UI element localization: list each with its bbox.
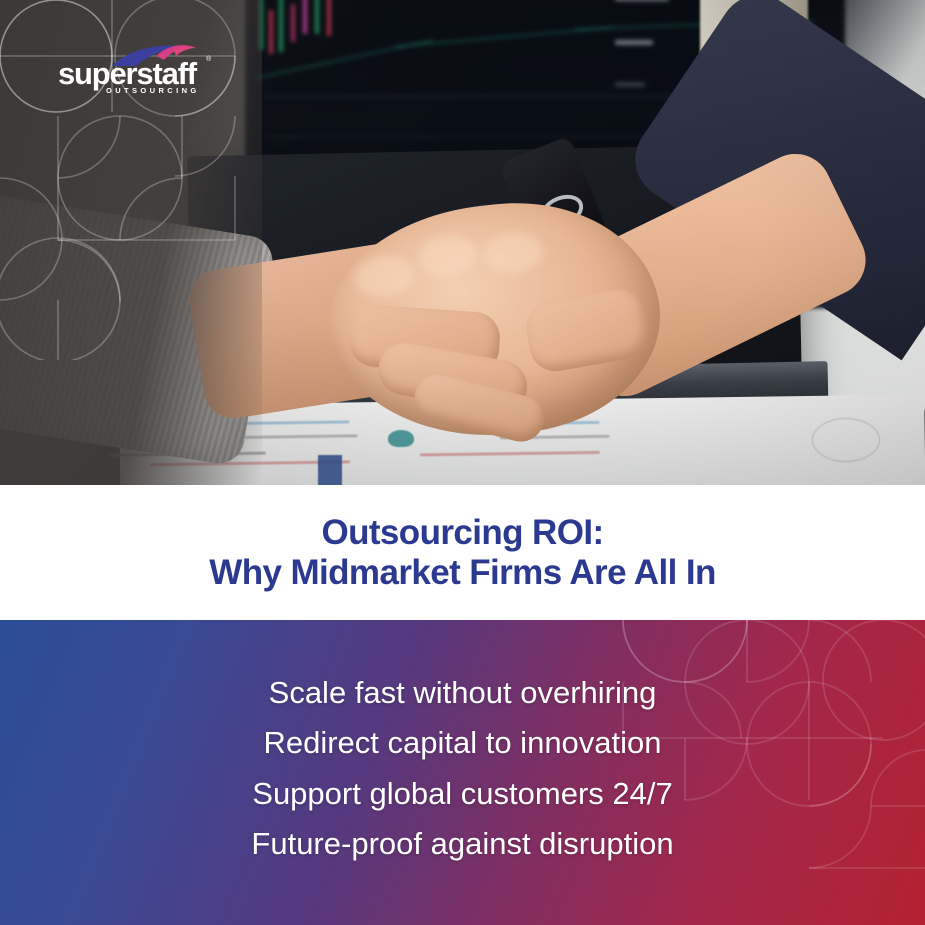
logo-tagline: OUTSOURCING [106,86,200,95]
benefit-item: Redirect capital to innovation [251,718,673,768]
title-band: Outsourcing ROI: Why Midmarket Firms Are… [0,485,925,620]
logo-registered-mark: ® [206,56,211,63]
benefits-list: Scale fast without overhiring Redirect c… [251,668,673,877]
benefit-item: Scale fast without overhiring [251,668,673,718]
report-bar-mark [318,455,342,485]
headline-line-1: Outsourcing ROI: [321,513,603,552]
superstaff-logo[interactable]: superstaff ® OUTSOURCING [58,46,218,96]
benefits-band: Scale fast without overhiring Redirect c… [0,620,925,925]
logo-wordmark: superstaff [58,58,196,89]
hero-photo: superstaff ® OUTSOURCING [0,0,925,485]
benefit-item: Future-proof against disruption [251,819,673,869]
benefit-item: Support global customers 24/7 [251,769,673,819]
headline-line-2: Why Midmarket Firms Are All In [209,553,715,592]
social-post-card: superstaff ® OUTSOURCING Outsourcing ROI… [0,0,925,925]
report-stamp [812,418,880,462]
report-logo-mark [388,430,414,447]
